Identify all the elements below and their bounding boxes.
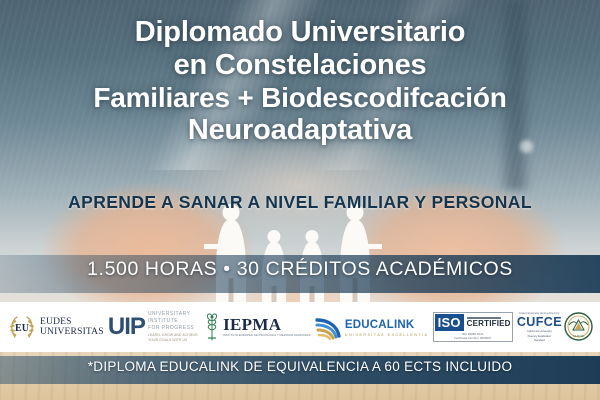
page-title: Diplomado Universitario en Constelacione… (0, 16, 600, 147)
promotional-poster: Diplomado Universitario en Constelacione… (0, 0, 600, 400)
accreditation-logo-strip: EU EUDES UNIVERSITAS UIP UNIVERSITARY IN… (0, 302, 600, 352)
logo-uip-sub1: Learn, Grow and Achieve (148, 333, 198, 338)
logo-eudes-line2: UNIVERSITAS (40, 327, 104, 337)
headline-line-3: Familiares + Biodescodifcación (6, 82, 594, 114)
logo-iso-label: CERTIFIED (467, 320, 511, 328)
logo-educalink-text: EDUCALINK UNIVERSITAS EXCELLENTIA (345, 316, 429, 338)
logo-uip-sub2: your Goals With Us (148, 338, 198, 343)
logo-uip: UIP UNIVERSITARY INSTITUTE FOR PROGRESS … (108, 311, 198, 342)
logo-cufce-sub3: Standard (534, 338, 545, 342)
credits-text: 1.500 HORAS • 30 CRÉDITOS ACADÉMICOS (0, 258, 600, 281)
logo-iso-fine2: Certificate Number 0900067 (454, 336, 492, 340)
logo-eudes-universitas: EU EUDES UNIVERSITAS (7, 313, 104, 341)
logo-uip-tag1: UNIVERSITARY (148, 311, 191, 317)
logo-educalink-sub: UNIVERSITAS EXCELLENTIA (345, 334, 429, 338)
logo-iepma-text: IEPMA INSTITUTO EUROPEO DE PSICOLOGÍA Y … (223, 316, 311, 338)
logo-uip-tag3: FOR PROGRESS (148, 325, 194, 331)
svg-text:CUFCE: CUFCE (573, 334, 583, 338)
footer-note: *DIPLOMA EDUCALINK DE EQUIVALENCIA A 60 … (0, 359, 600, 374)
logo-uip-tag2: INSTITUTE (148, 318, 178, 324)
logo-iso-certified: ISO CERTIFIED ISO 29990:2021 Certificate… (433, 312, 513, 343)
headline-line-2: en Constelaciones (6, 49, 594, 82)
logo-uip-tagline: UNIVERSITARY INSTITUTE FOR PROGRESS Lear… (148, 311, 198, 342)
logo-iepma: IEPMA INSTITUTO EUROPEO DE PSICOLOGÍA Y … (202, 312, 311, 342)
iso-badge: ISO CERTIFIED ISO 29990:2021 Certificate… (433, 312, 513, 343)
logo-educalink: EDUCALINK UNIVERSITAS EXCELLENTIA (315, 314, 429, 341)
headline-line-4: Neuroadaptativa (6, 114, 594, 147)
logo-cufce: Internationally Accredited by CUFCE Cali… (517, 312, 593, 342)
poster-subtitle: APRENDE A SANAR A NIVEL FAMILIAR Y PERSO… (0, 192, 600, 213)
laurel-wreath-icon: EU (7, 313, 37, 341)
logo-iepma-sub: INSTITUTO EUROPEO DE PSICOLOGÍA Y MEDICI… (223, 335, 311, 338)
logo-eudes-line1: EUDES (40, 317, 72, 327)
headline-line-1: Diplomado Universitario (6, 16, 594, 49)
logo-iepma-mark: IEPMA (223, 315, 281, 334)
logo-cufce-mark: CUFCE (517, 316, 562, 329)
logo-cufce-sub: California University Fluency Evaluation… (517, 329, 562, 342)
logo-eudes-text: EUDES UNIVERSITAS (40, 317, 104, 338)
logo-iso-mark: ISO (435, 314, 464, 332)
logo-cufce-text: Internationally Accredited by CUFCE Cali… (517, 312, 562, 342)
logo-iso-fineprint: ISO 29990:2021 Certificate Number 090006… (435, 333, 511, 341)
swoosh-icon (315, 314, 342, 341)
logo-educalink-name: EDUCALINK (345, 319, 415, 331)
seal-icon: CUFCE (564, 312, 593, 341)
svg-text:EU: EU (15, 323, 29, 334)
logo-uip-mark: UIP (108, 315, 145, 339)
caduceus-icon (202, 312, 222, 342)
